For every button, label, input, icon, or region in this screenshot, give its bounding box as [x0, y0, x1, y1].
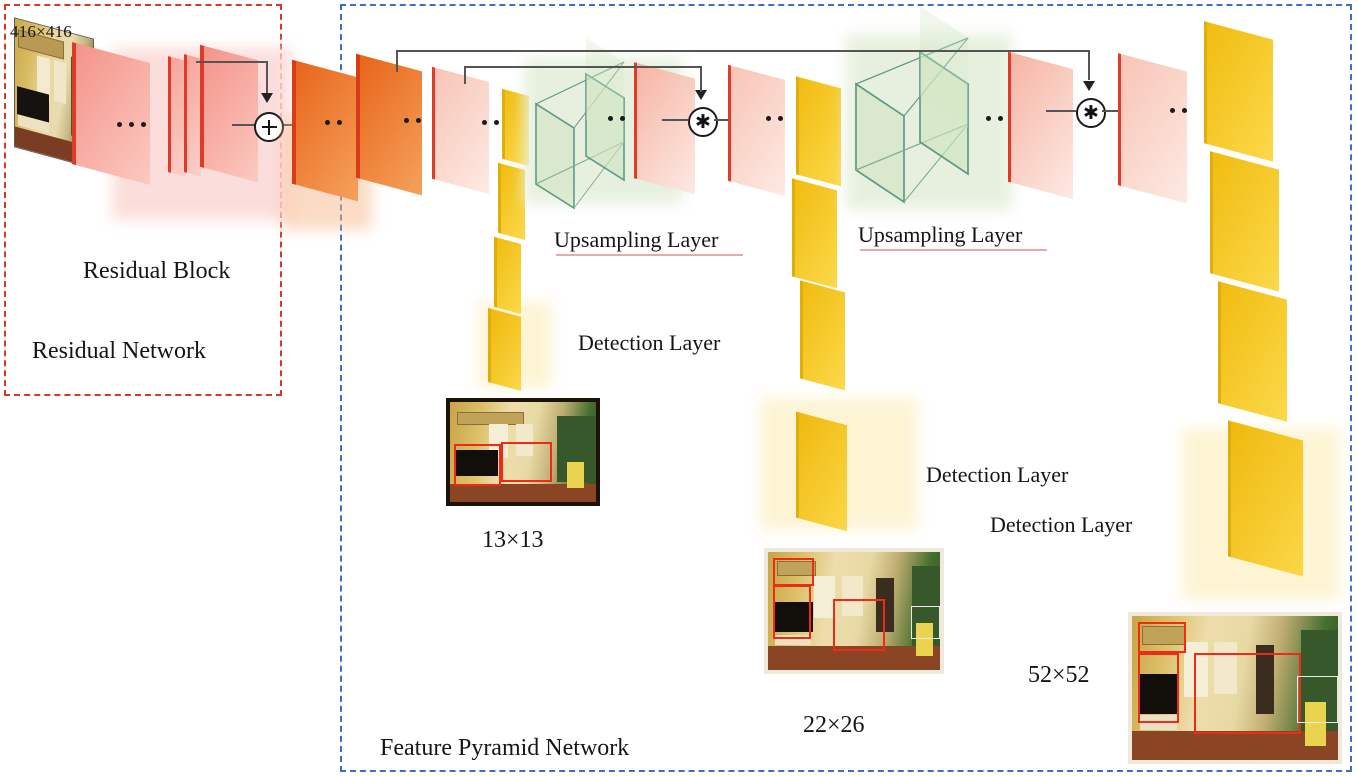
residual-block-label: Residual Block	[83, 258, 230, 285]
fpn-pale-slab-3	[728, 65, 782, 195]
architecture-diagram: 416×416 Residual Block Residual Network …	[0, 0, 1358, 776]
detection-slab	[1204, 21, 1270, 161]
residual-plane	[168, 56, 182, 176]
upsampling-layer-label-1: Upsampling Layer	[554, 227, 718, 253]
bounding-box	[773, 558, 814, 586]
residual-network-label: Residual Network	[32, 338, 206, 365]
fpn-merge-wire-in-1	[662, 119, 688, 121]
detection-slab	[498, 163, 522, 239]
scale-label-2: 22×26	[803, 712, 865, 739]
ellipsis-upsample-1	[608, 116, 625, 121]
residual-skip-arrow-icon	[261, 93, 273, 103]
detection-slab	[502, 89, 526, 165]
ellipsis-fpn-1	[482, 120, 499, 125]
detection-output-thumbnail-2	[764, 548, 944, 674]
fpn-skip-wire-2-up	[396, 50, 398, 72]
fpn-pale-slab-2	[634, 62, 692, 194]
upsampling-label-underline-2	[860, 249, 1047, 251]
ellipsis-fpn-3	[1170, 108, 1187, 113]
detection-output-thumbnail-3	[1128, 612, 1342, 764]
fpn-skip-wire-1-up	[464, 66, 466, 84]
residual-add-node	[254, 112, 284, 142]
ellipsis-backbone-2	[404, 118, 421, 123]
bounding-box	[773, 585, 811, 639]
residual-plane	[72, 42, 146, 184]
ellipsis-fpn-2	[766, 116, 783, 121]
fpn-pale-slab-1	[432, 67, 486, 193]
bounding-box	[501, 442, 552, 482]
upsampling-label-underline-1	[556, 254, 743, 256]
detection-layer-slab-3	[1228, 420, 1300, 575]
ellipsis-backbone-1	[325, 120, 342, 125]
bounding-box	[833, 599, 885, 651]
fpn-merge-arrow-icon-2	[1083, 81, 1095, 91]
fpn-merge-node-1: ✱	[688, 107, 718, 137]
scale-label-3: 52×52	[1028, 662, 1090, 689]
residual-main-wire-in	[232, 124, 256, 126]
fpn-pale-slab-4	[1008, 52, 1070, 199]
detection-slab	[796, 76, 838, 185]
fpn-merge-node-2: ✱	[1076, 98, 1106, 128]
detection-output-thumbnail-1	[446, 398, 600, 506]
residual-plane	[184, 54, 198, 176]
residual-skip-wire	[196, 61, 268, 63]
bounding-box	[1297, 676, 1338, 722]
bounding-box	[911, 606, 940, 639]
detection-slab	[1210, 151, 1276, 291]
residual-skip-wire-down	[266, 61, 268, 95]
input-size-label: 416×416	[10, 22, 72, 42]
fpn-skip-wire-2	[396, 50, 1089, 52]
fpn-skip-wire-1	[464, 66, 701, 68]
ellipsis-residual	[117, 122, 146, 127]
fpn-skip-wire-2-down	[1088, 50, 1090, 80]
bounding-box	[454, 444, 501, 486]
detection-layer-slab-2	[796, 412, 844, 531]
bounding-box	[1138, 653, 1179, 722]
fpn-merge-wire-in-2	[1046, 110, 1076, 112]
detection-slab	[800, 280, 842, 389]
feature-pyramid-network-label: Feature Pyramid Network	[380, 735, 629, 762]
detection-layer-label-2: Detection Layer	[926, 462, 1068, 488]
detection-layer-label-1: Detection Layer	[578, 330, 720, 356]
detection-layer-label-3: Detection Layer	[990, 512, 1132, 538]
backbone-slab-1	[292, 60, 354, 201]
upsampling-frustum-2	[846, 30, 1031, 215]
fpn-skip-wire-1-down	[700, 66, 702, 92]
fpn-pale-slab-5	[1118, 53, 1184, 203]
ellipsis-upsample-2	[986, 116, 1003, 121]
residual-plane-last	[200, 45, 254, 181]
bounding-box	[1194, 653, 1301, 734]
detection-slab	[1218, 281, 1284, 421]
bounding-box	[1138, 622, 1185, 654]
backbone-slab-2	[356, 54, 418, 195]
upsampling-layer-label-2: Upsampling Layer	[858, 222, 1022, 248]
scale-label-1: 13×13	[482, 527, 544, 554]
detection-layer-slab-1	[488, 308, 518, 390]
detection-slab	[494, 237, 518, 313]
detection-slab	[792, 178, 834, 287]
